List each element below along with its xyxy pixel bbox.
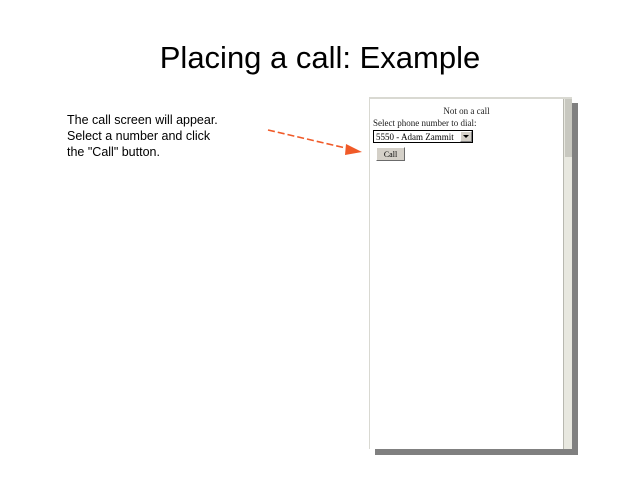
- chevron-down-icon[interactable]: [460, 131, 472, 142]
- caption-line-1: The call screen will appear.: [67, 112, 267, 128]
- embedded-screenshot: Not on a call Select phone number to dia…: [369, 97, 572, 449]
- caption-text-block: The call screen will appear. Select a nu…: [67, 112, 267, 160]
- vertical-scrollbar-thumb[interactable]: [565, 99, 572, 157]
- vertical-scrollbar[interactable]: [563, 99, 572, 449]
- caption-line-3: the "Call" button.: [67, 144, 267, 160]
- caption-line-2: Select a number and click: [67, 128, 267, 144]
- phone-number-select-value: 5550 - Adam Zammit: [374, 132, 460, 142]
- dial-number-label: Select phone number to dial:: [373, 118, 476, 128]
- call-button[interactable]: Call: [376, 147, 405, 161]
- phone-number-select[interactable]: 5550 - Adam Zammit: [373, 130, 473, 143]
- arrow-right-icon: [262, 120, 370, 162]
- page-title: Placing a call: Example: [0, 40, 640, 76]
- call-screen-client-area: Not on a call Select phone number to dia…: [370, 99, 563, 449]
- call-screen-window: Not on a call Select phone number to dia…: [369, 97, 572, 449]
- call-status-text: Not on a call: [370, 106, 563, 116]
